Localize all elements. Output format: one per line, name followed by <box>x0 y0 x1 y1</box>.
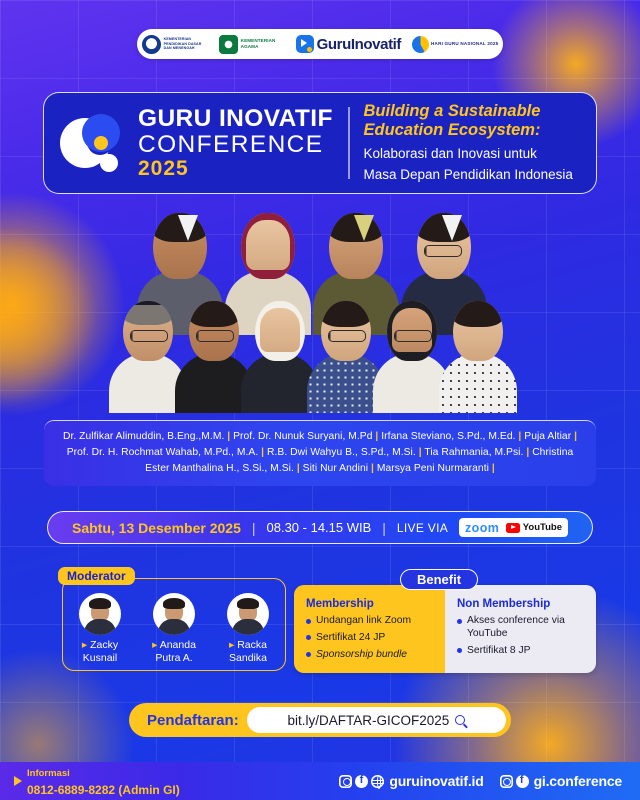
bullet-icon <box>306 652 311 657</box>
instagram-icon[interactable] <box>339 775 352 788</box>
moderator-list: ▸ ZackyKusnail ▸ AnandaPutra A. ▸ RackaS… <box>63 593 285 665</box>
instagram-icon[interactable] <box>500 775 513 788</box>
bullet-icon <box>306 635 311 640</box>
kemendikdasmen-seal-icon <box>142 35 161 54</box>
social-group-guruinovatif[interactable]: guruinovatif.id <box>339 773 483 789</box>
benefit-item: Sponsorship bundle <box>306 649 435 662</box>
benefit-panel: Membership Undangan link Zoom Sertifikat… <box>294 585 596 673</box>
bullet-icon: ▸ <box>152 639 157 651</box>
platform-badges: zoom YouTube <box>459 518 568 537</box>
moderator-item: ▸ RackaSandika <box>216 593 280 665</box>
registration-link-field[interactable]: bit.ly/DAFTAR-GICOF2025 <box>247 707 506 733</box>
info-phone[interactable]: 0812-6889-8282 (Admin GI) <box>27 783 180 797</box>
avatar <box>153 593 195 635</box>
membership-heading: Membership <box>306 598 435 610</box>
moderator-item: ▸ ZackyKusnail <box>68 593 132 665</box>
kemendikdasmen-label: KEMENTERIAN PENDIDIKAN DASAR DAN MENENGA… <box>164 37 208 50</box>
social-group-gi-conference[interactable]: gi.conference <box>500 773 622 789</box>
schedule-separator: | <box>382 520 386 536</box>
hari-guru-label: HARI GURU NASIONAL 2025 <box>431 41 498 46</box>
title-line-2: CONFERENCE <box>138 133 333 158</box>
guruinovatif-wordmark: GuruInovatif <box>317 36 401 53</box>
theme-line-2: Education Ecosystem: <box>364 121 585 140</box>
speaker-photo-group <box>0 205 640 420</box>
hari-guru-nasional-logo: HARI GURU NASIONAL 2025 <box>412 36 498 53</box>
moderator-panel: Moderator ▸ ZackyKusnail ▸ AnandaPutra A… <box>62 578 286 671</box>
event-date: Sabtu, 13 Desember 2025 <box>72 520 241 536</box>
guruinovatif-mark-icon <box>296 35 314 53</box>
hari-guru-mark-icon <box>412 36 429 53</box>
youtube-label: YouTube <box>523 522 562 533</box>
theme-line-1: Building a Sustainable <box>364 102 585 121</box>
event-time: 08.30 - 14.15 WIB <box>267 520 372 535</box>
benefit-item: Sertifikat 8 JP <box>457 645 586 658</box>
facebook-icon[interactable] <box>516 775 529 788</box>
kemenag-label: KEMENTERIAN AGAMA <box>241 38 285 49</box>
avatar <box>227 593 269 635</box>
moderator-name: ▸ ZackyKusnail <box>68 639 132 665</box>
bullet-icon: ▸ <box>82 639 87 651</box>
kemendikdasmen-logo: KEMENTERIAN PENDIDIKAN DASAR DAN MENENGA… <box>142 35 208 54</box>
info-label: Informasi <box>27 768 70 779</box>
search-icon <box>455 715 465 725</box>
social-handle[interactable]: gi.conference <box>534 773 622 789</box>
non-membership-heading: Non Membership <box>457 598 586 610</box>
bullet-icon: ▸ <box>229 639 234 651</box>
live-via-label: LIVE VIA <box>397 521 448 535</box>
zoom-logo: zoom <box>465 521 499 535</box>
title-card: GURU INOVATIF CONFERENCE 2025 Building a… <box>43 92 597 194</box>
youtube-logo: YouTube <box>506 522 562 533</box>
title-year: 2025 <box>138 158 333 179</box>
partner-logo-bar: KEMENTERIAN PENDIDIKAN DASAR DAN MENENGA… <box>137 29 503 59</box>
membership-column: Membership Undangan link Zoom Sertifikat… <box>294 585 445 673</box>
speaker-photo <box>453 301 517 413</box>
social-icons <box>500 775 529 788</box>
benefit-item: Sertifikat 24 JP <box>306 632 435 645</box>
moderator-item: ▸ AnandaPutra A. <box>142 593 206 665</box>
bullet-icon <box>457 619 462 624</box>
registration-label: Pendaftaran: <box>147 712 239 729</box>
registration-url[interactable]: bit.ly/DAFTAR-GICOF2025 <box>287 713 449 728</box>
benefit-tag: Benefit <box>400 569 478 590</box>
schedule-bar: Sabtu, 13 Desember 2025 | 08.30 - 14.15 … <box>47 511 593 544</box>
kemenag-logo: KEMENTERIAN AGAMA <box>219 35 285 54</box>
speaker-row-front <box>0 301 640 413</box>
facebook-icon[interactable] <box>355 775 368 788</box>
title-text-block: GURU INOVATIF CONFERENCE 2025 <box>138 107 333 179</box>
benefit-item: Undangan link Zoom <box>306 615 435 628</box>
website-icon[interactable] <box>371 775 384 788</box>
moderator-name: ▸ RackaSandika <box>216 639 280 665</box>
speaker-names-text: Dr. Zulfikar Alimuddin, B.Eng.,M.M. | Pr… <box>54 429 586 477</box>
bullet-icon <box>457 648 462 653</box>
social-handle[interactable]: guruinovatif.id <box>389 773 483 789</box>
registration-bar[interactable]: Pendaftaran: bit.ly/DAFTAR-GICOF2025 <box>129 703 511 737</box>
social-links: guruinovatif.id gi.conference <box>339 773 626 789</box>
contact-info: Informasi 0812-6889-8282 (Admin GI) <box>14 763 180 799</box>
kemenag-seal-icon <box>219 35 238 54</box>
title-divider <box>348 107 350 179</box>
play-triangle-icon <box>14 776 22 786</box>
title-line-1: GURU INOVATIF <box>138 107 333 132</box>
social-icons <box>339 775 384 788</box>
non-membership-column: Non Membership Akses conference via YouT… <box>445 585 596 673</box>
title-left: GURU INOVATIF CONFERENCE 2025 <box>44 107 344 179</box>
bullet-icon <box>306 619 311 624</box>
theme-sub-line-1: Kolaborasi dan Inovasi untuk <box>364 145 585 163</box>
youtube-play-icon <box>506 523 520 533</box>
footer-bar: Informasi 0812-6889-8282 (Admin GI) guru… <box>0 762 640 800</box>
contact-text: Informasi 0812-6889-8282 (Admin GI) <box>27 763 180 799</box>
conference-logo-icon <box>58 110 130 176</box>
moderator-name: ▸ AnandaPutra A. <box>142 639 206 665</box>
avatar <box>79 593 121 635</box>
schedule-separator: | <box>252 520 256 536</box>
benefit-item: Akses conference via YouTube <box>457 615 586 641</box>
conference-poster: KEMENTERIAN PENDIDIKAN DASAR DAN MENENGA… <box>0 0 640 800</box>
speaker-names-strip: Dr. Zulfikar Alimuddin, B.Eng.,M.M. | Pr… <box>44 420 596 486</box>
theme-sub-line-2: Masa Depan Pendidikan Indonesia <box>364 166 585 184</box>
moderator-tag: Moderator <box>58 567 135 585</box>
guruinovatif-logo: GuruInovatif <box>296 35 401 53</box>
theme-block: Building a Sustainable Education Ecosyst… <box>364 102 597 184</box>
